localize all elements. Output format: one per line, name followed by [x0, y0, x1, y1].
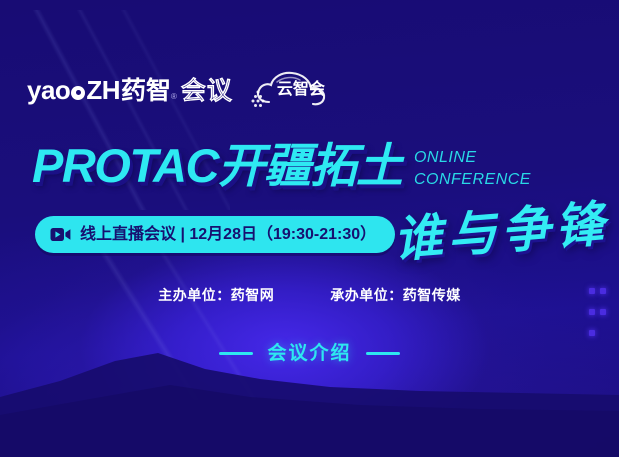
- rule-right-icon: [366, 352, 400, 355]
- subtitle-line-1: ONLINE: [414, 147, 531, 169]
- yaozh-o-dot-icon: [71, 86, 85, 100]
- yaozh-cn-label: 药智: [121, 79, 171, 104]
- organizer-row: 主办单位：药智网 承办单位：药智传媒: [0, 285, 619, 305]
- live-broadcast-badge[interactable]: 线上直播会议 | 12月28日（19:30-21:30）: [35, 216, 395, 253]
- yunzhihui-logo[interactable]: 云智会: [247, 69, 342, 111]
- organizer-host: 主办单位：药智网: [158, 285, 274, 305]
- section-heading: 会议介绍: [0, 344, 619, 363]
- live-broadcast-text: 线上直播会议 | 12月28日（19:30-21:30）: [80, 227, 376, 243]
- conference-banner: yaoZH 药智 ® 会议 云智会 PROTAC开疆拓土 ONLINE: [0, 0, 619, 457]
- rule-left-icon: [219, 352, 253, 355]
- video-camera-icon: [50, 227, 71, 242]
- page-title: PROTAC开疆拓土: [32, 142, 402, 189]
- yaozh-wordmark-yao: yao: [27, 75, 70, 105]
- yaozh-meeting-label: 会议: [181, 79, 233, 104]
- yaozh-logo[interactable]: yaoZH 药智 ® 会议: [27, 77, 233, 104]
- registered-mark-icon: ®: [171, 93, 177, 101]
- yaozh-wordmark-zh: ZH: [86, 75, 120, 105]
- dot-cluster-icon: [251, 91, 264, 108]
- hero-title-block: PROTAC开疆拓土 ONLINE CONFERENCE: [32, 142, 531, 190]
- title-han: 开疆拓土: [218, 139, 402, 192]
- title-latin: PROTAC: [32, 139, 218, 192]
- yaozh-wordmark: yaoZH: [27, 77, 120, 103]
- yunzhihui-label: 云智会: [277, 82, 325, 98]
- organizer-coorganizer: 承办单位：药智传媒: [330, 285, 461, 305]
- section-heading-text: 会议介绍: [267, 344, 351, 363]
- subtitle-online-conference: ONLINE CONFERENCE: [414, 147, 531, 190]
- logo-row: yaoZH 药智 ® 会议 云智会: [27, 68, 342, 112]
- subtitle-line-2: CONFERENCE: [414, 169, 531, 191]
